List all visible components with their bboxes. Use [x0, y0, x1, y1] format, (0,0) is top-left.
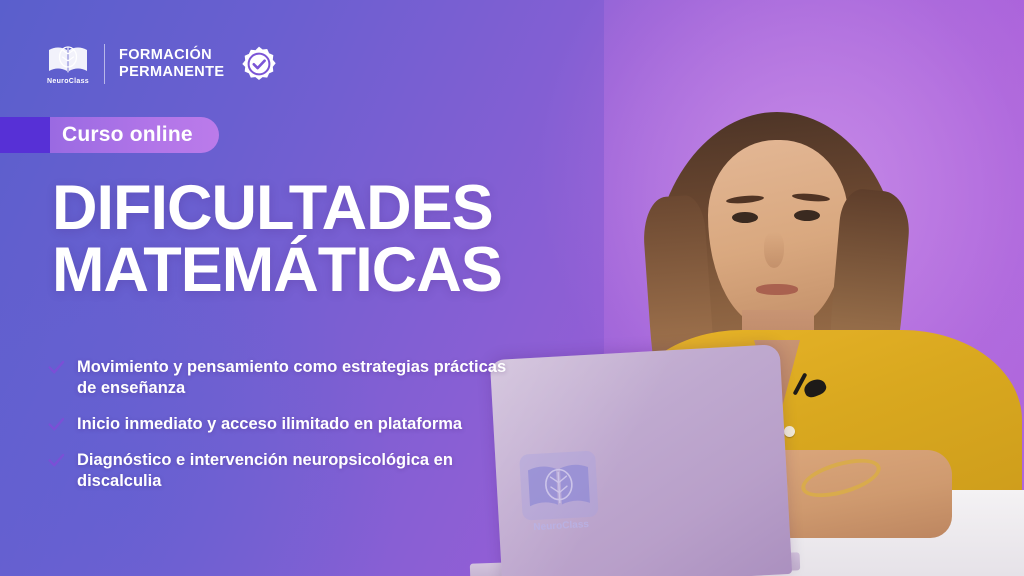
check-icon — [48, 453, 65, 468]
badge-label: Curso online — [50, 117, 219, 153]
list-item: Movimiento y pensamiento como estrategia… — [48, 357, 518, 399]
brand-header: NeuroClass FORMACIÓN PERMANENTE — [46, 42, 279, 85]
brand-tagline-line2: PERMANENTE — [119, 64, 225, 80]
brand-tagline-line1: FORMACIÓN — [119, 47, 225, 63]
page-title: DIFICULTADES MATEMÁTICAS — [52, 178, 502, 301]
page-title-line2: MATEMÁTICAS — [52, 240, 502, 302]
open-book-brain-icon — [46, 42, 90, 76]
verified-badge-check-icon — [239, 44, 279, 84]
list-item-label: Movimiento y pensamiento como estrategia… — [77, 357, 518, 399]
promo-banner: NeuroClass NeuroClass FORMACIÓN PERMANEN… — [0, 0, 1024, 576]
eye-right — [794, 210, 820, 221]
check-icon — [48, 417, 65, 432]
list-item: Diagnóstico e intervención neuropsicológ… — [48, 450, 518, 492]
mouth — [756, 284, 798, 295]
eye-left — [732, 212, 758, 223]
list-item-label: Diagnóstico e intervención neuropsicológ… — [77, 450, 518, 492]
list-item-label: Inicio inmediato y acceso ilimitado en p… — [77, 414, 462, 435]
brand-logo-name: NeuroClass — [47, 78, 89, 85]
list-item: Inicio inmediato y acceso ilimitado en p… — [48, 414, 518, 435]
page-title-line1: DIFICULTADES — [52, 178, 502, 240]
brand-divider — [104, 44, 105, 84]
check-icon — [48, 360, 65, 375]
blouse-button — [784, 426, 795, 437]
neuroclass-logo: NeuroClass — [46, 42, 90, 85]
feature-list: Movimiento y pensamiento como estrategia… — [48, 357, 518, 493]
laptop-sticker-label: NeuroClass — [533, 519, 590, 533]
brand-tagline: FORMACIÓN PERMANENTE — [119, 47, 225, 79]
course-type-badge: Curso online — [0, 117, 219, 153]
laptop-lid: NeuroClass — [490, 344, 792, 576]
badge-accent-cap — [0, 117, 50, 153]
nose — [764, 232, 784, 268]
neuroclass-sticker-icon: NeuroClass — [517, 446, 602, 536]
